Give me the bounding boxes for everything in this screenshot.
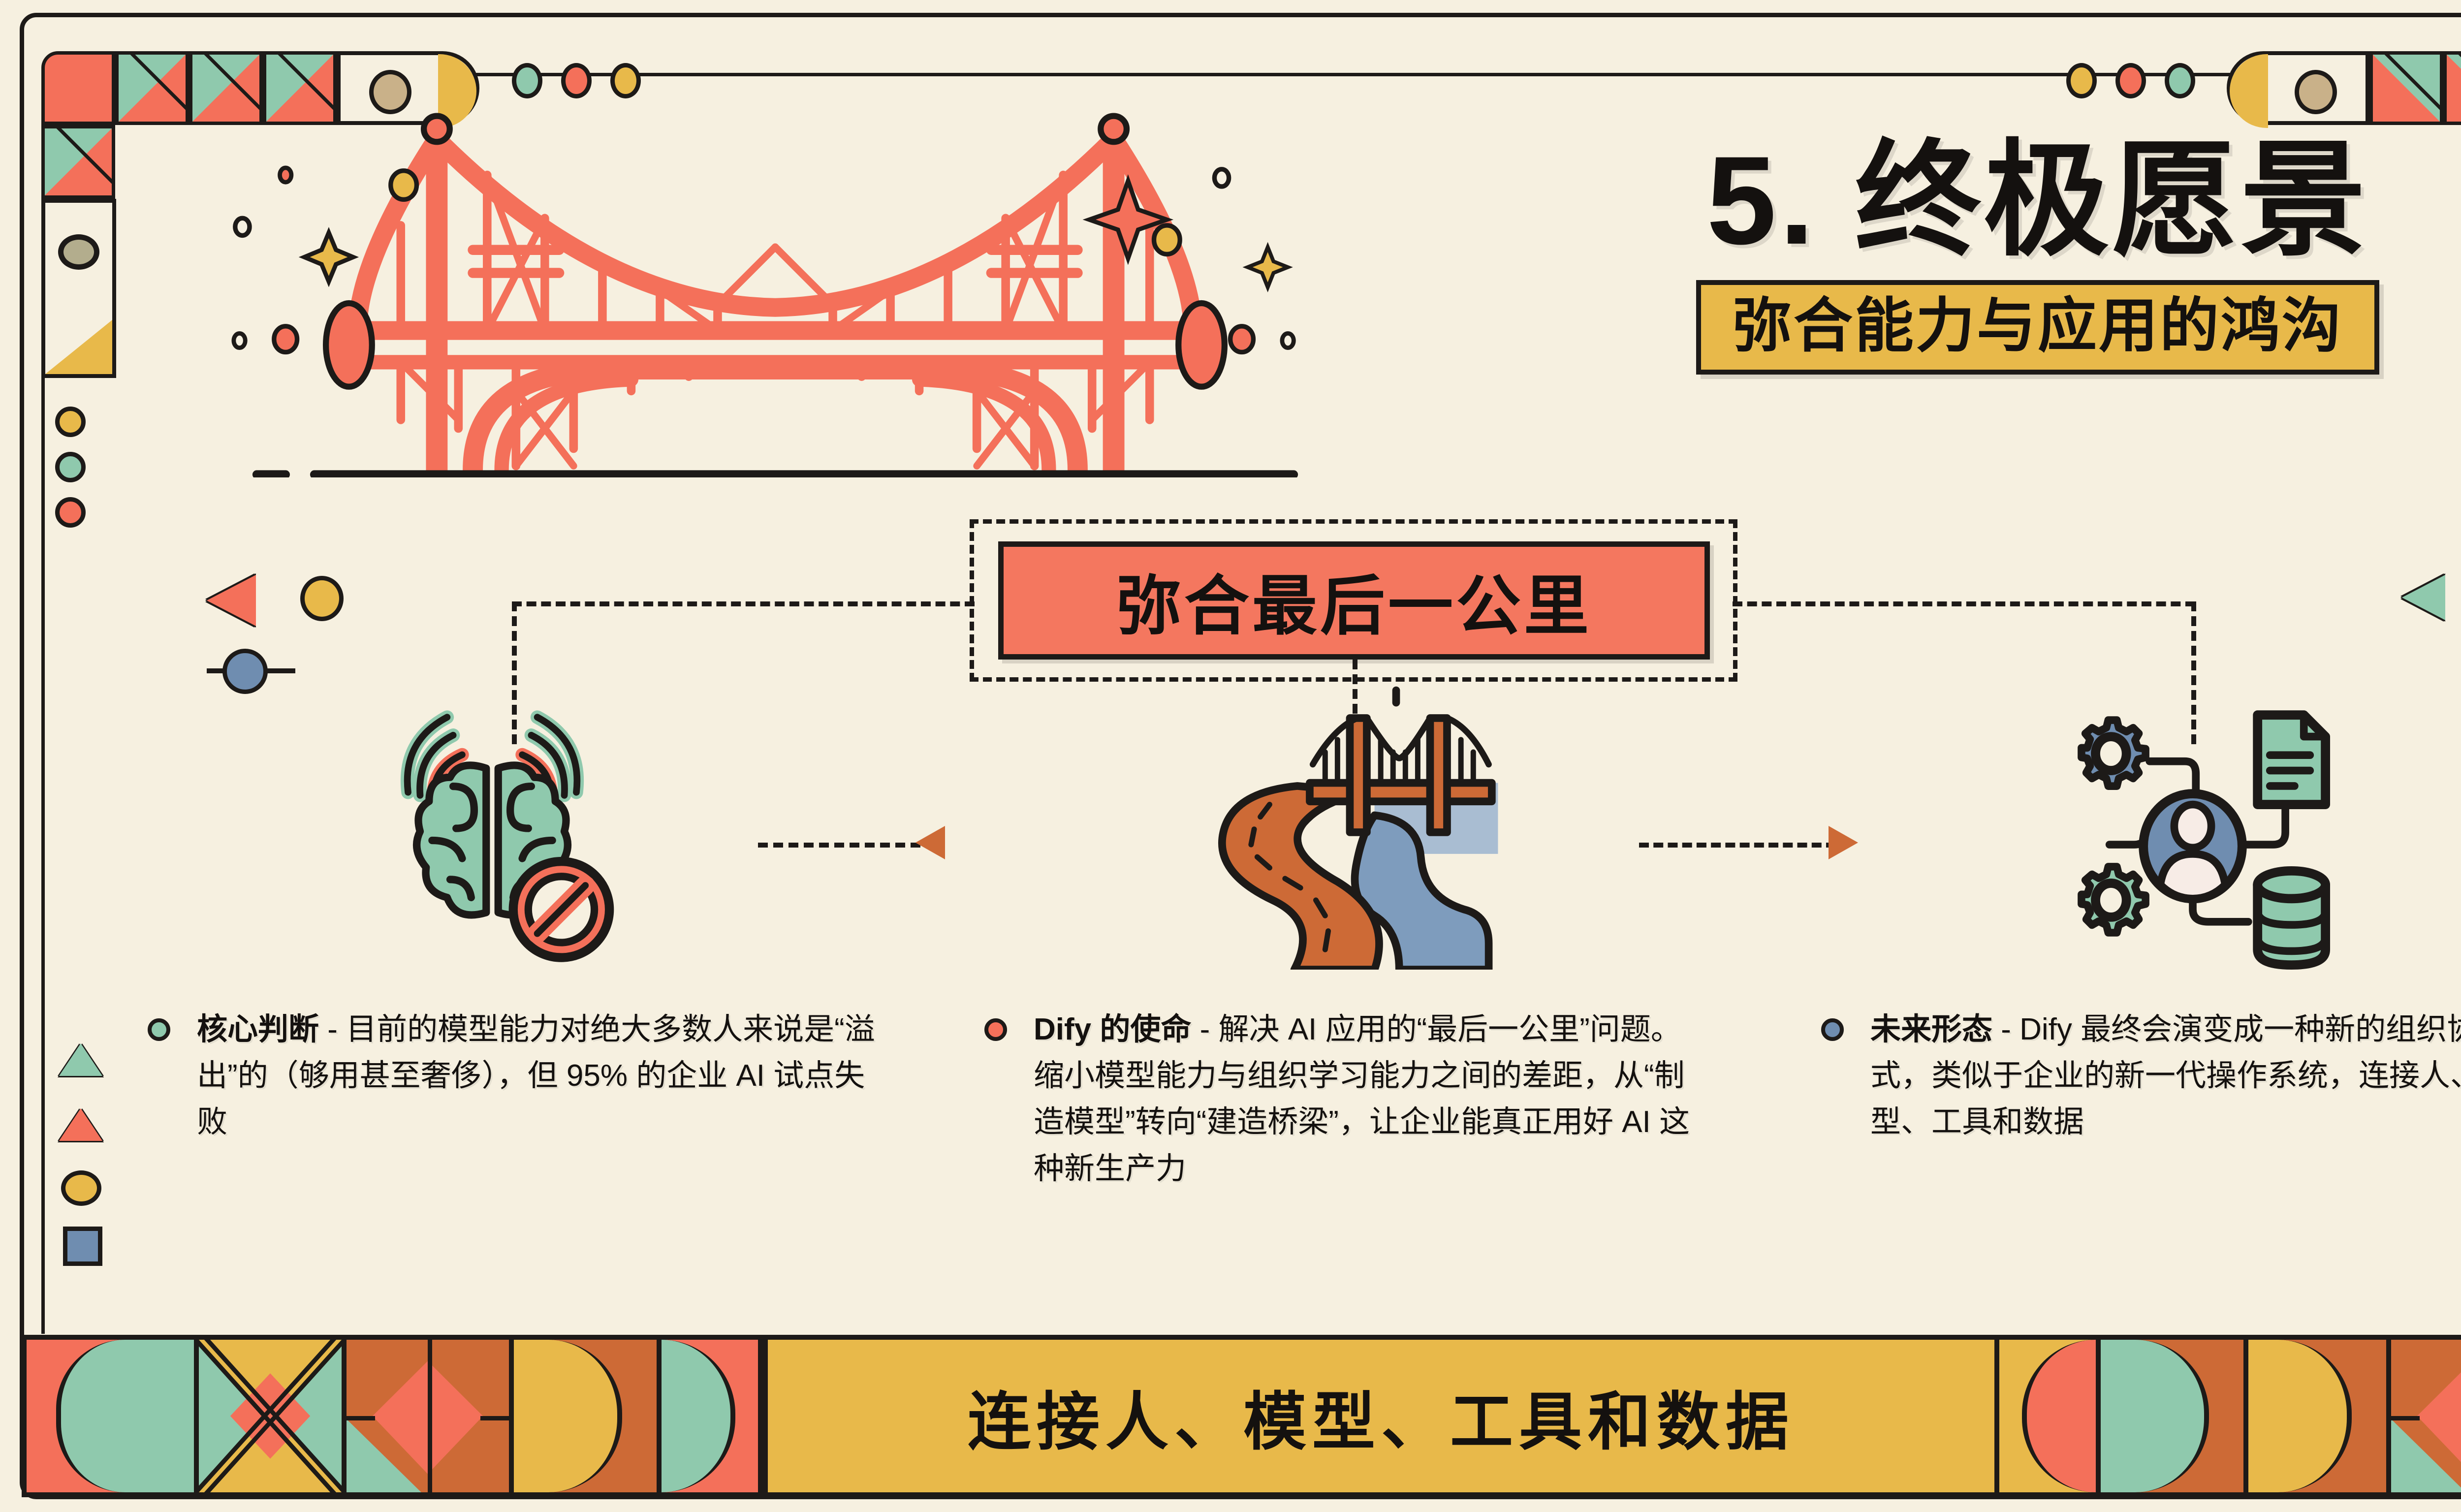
decor-circle-blue-left: [222, 649, 268, 694]
decor-pill-top-right: [2227, 51, 2369, 125]
bp-r1: [1999, 1340, 2101, 1492]
network-hub-icon: [2038, 684, 2348, 970]
decor-triangle-mint-right: [2402, 575, 2445, 620]
bullet-lead-2: Dify 的使命: [1034, 1012, 1191, 1046]
bullet-marker-2: [984, 1018, 1007, 1041]
decor-box-left-rail: [41, 199, 116, 378]
connector-arrow-right: [1829, 826, 1858, 859]
center-banner: 弥合最后一公里: [998, 541, 1710, 660]
bullet-text-1: 核心判断 - 目前的模型能力对绝大多数人来说是“溢出”的（够用甚至奢侈），但 9…: [148, 1007, 891, 1146]
brain-blocked-icon: [340, 684, 645, 970]
bullet-sep-1: -: [319, 1012, 346, 1046]
bullet-lead-1: 核心判断: [197, 1012, 319, 1046]
bullet-lead-3: 未来形态: [1870, 1012, 1992, 1046]
bp-r3: [2248, 1340, 2391, 1492]
bp-l4: [514, 1340, 662, 1492]
legend-coral-triangle-left: [59, 1108, 102, 1141]
bp-l3: [347, 1340, 514, 1492]
bp-l1: [27, 1340, 199, 1492]
connector-top-right: [1733, 601, 2195, 606]
bullet-sep-3: -: [1992, 1012, 2019, 1046]
bullet-sep-2: -: [1191, 1012, 1218, 1046]
subtitle-badge: 弥合能力与应用的鸿沟: [1696, 280, 2379, 375]
bullet-marker-1: [148, 1018, 170, 1041]
center-banner-label: 弥合最后一公里: [1116, 554, 1592, 648]
bottom-banner: 连接人、模型、工具和数据: [763, 1340, 1999, 1492]
decor-triangle-coral-left: [207, 575, 256, 626]
bp-r4: [2391, 1340, 2461, 1492]
connector-top-left: [512, 601, 975, 606]
connector-left-into-icon: [758, 843, 920, 848]
corner-tri-tr-3: [2369, 51, 2443, 125]
legend-slate-square-left: [63, 1227, 102, 1266]
connector-arrow-left: [915, 826, 945, 859]
bullet-column-1: 核心判断 - 目前的模型能力对绝大多数人来说是“溢出”的（够用甚至奢侈），但 9…: [148, 1007, 891, 1146]
bullet-text-2: Dify 的使命 - 解决 AI 应用的“最后一公里”问题。缩小模型能力与组织学…: [984, 1007, 1708, 1192]
decor-dot-left-coral: [55, 497, 86, 528]
decor-dot-left-gold: [55, 407, 86, 437]
bottom-banner-label: 连接人、模型、工具和数据: [968, 1371, 1795, 1462]
bp-r2: [2101, 1340, 2248, 1492]
road-river-bridge-icon: [1201, 684, 1511, 970]
suspension-bridge-illustration: [197, 89, 1354, 477]
corner-tri-tr-2: [2443, 51, 2461, 125]
bp-l5: [662, 1340, 763, 1492]
decor-dot-gold-top-right: [2066, 63, 2097, 98]
decor-dot-mint-top-right: [2165, 63, 2195, 98]
corner-tri-tl-1: [115, 51, 189, 125]
bullet-column-3: 未来形态 - Dify 最终会演变成一种新的组织协作方式，类似于企业的新一代操作…: [1821, 1007, 2461, 1146]
corner-tri-tl-4: [41, 125, 115, 199]
legend-mint-triangle-left: [59, 1043, 102, 1076]
bottom-pattern-strip: 连接人、模型、工具和数据: [22, 1335, 2461, 1497]
header-block: 5. 终极愿景 弥合能力与应用的鸿沟: [1467, 138, 2461, 375]
connector-right-into-icon: [1639, 843, 1836, 848]
bullet-column-2: Dify 的使命 - 解决 AI 应用的“最后一公里”问题。缩小模型能力与组织学…: [984, 1007, 1708, 1192]
page-title: 5. 终极愿景: [1467, 138, 2461, 263]
legend-gold-circle-left: [61, 1170, 101, 1206]
infographic-poster: 5. 终极愿景 弥合能力与应用的鸿沟 弥合最后一公里: [0, 0, 2461, 1512]
bp-l2: [199, 1340, 347, 1492]
decor-circle-gold-mid-left: [300, 576, 344, 621]
subtitle-text: 弥合能力与应用的鸿沟: [1733, 295, 2343, 357]
bullet-marker-3: [1821, 1018, 1844, 1041]
bullet-text-3: 未来形态 - Dify 最终会演变成一种新的组织协作方式，类似于企业的新一代操作…: [1821, 1007, 2461, 1146]
decor-dot-coral-top-right: [2115, 63, 2146, 98]
decor-dot-left-mint: [55, 452, 86, 482]
corner-block-tl: [41, 51, 115, 125]
